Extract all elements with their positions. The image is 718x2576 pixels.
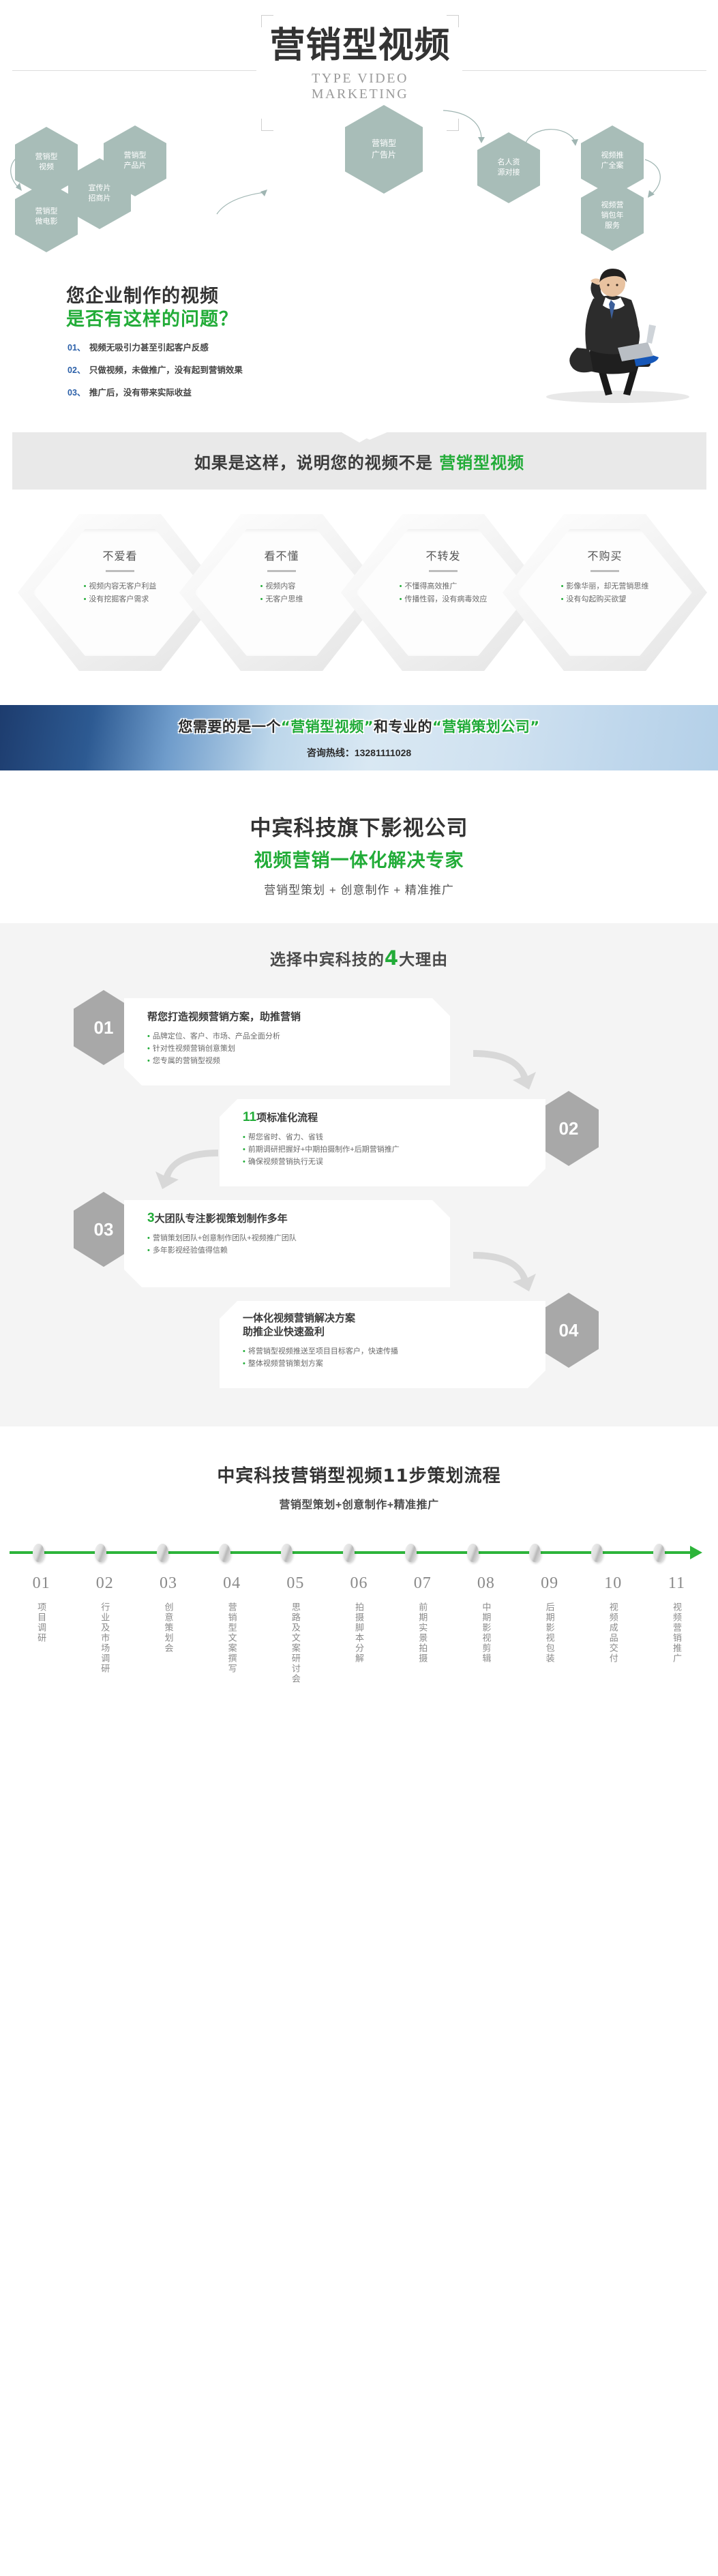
step-number: 09 <box>518 1574 582 1593</box>
reason-card-1[interactable]: 11项标准化流程 •帮您省时、省力、省钱 •前期调研把握好+中期拍摄制作+后期营… <box>220 1099 545 1186</box>
timeline-node[interactable] <box>157 1544 168 1562</box>
card-bullet: 不懂得高效推广 <box>404 582 457 590</box>
reason-badge-1-label: 02 <box>559 1118 579 1139</box>
question-item-number: 02、 <box>68 365 85 375</box>
step-label: 营销型文案撰写 <box>225 1602 239 1674</box>
reason-badge-3: 04 <box>539 1293 599 1368</box>
reason-card-3[interactable]: 一体化视频营销解决方案 助推企业快速盈利 •将营销型视频推送至项目目标客户，快速… <box>220 1301 545 1388</box>
cta-headline: 您需要的是一个“营销型视频”和专业的“营销策划公司” <box>178 716 539 736</box>
page-header: 营销型视频 TYPE VIDEO MARKETING <box>0 0 718 102</box>
landing-page: 营销型视频 TYPE VIDEO MARKETING 营销型 视频 <box>0 0 718 1708</box>
steps-subtitle: 营销型策划+创意制作+精准推广 <box>0 1495 718 1512</box>
card-bullets: •影像华丽，却无营销思维 •没有勾起购买欲望 <box>561 580 649 606</box>
step-label: 视频营销推广 <box>670 1602 684 1664</box>
reason-row-1: 02 11项标准化流程 •帮您省时、省力、省钱 •前期调研把握好+中期拍摄制作+… <box>0 1088 718 1190</box>
bullet-dot-icon: • <box>260 582 263 590</box>
step-item-9[interactable]: 10 视频成品交付 <box>582 1574 645 1688</box>
question-item-text: 视频无吸引力甚至引起客户反感 <box>89 343 209 353</box>
timeline-node[interactable] <box>33 1544 44 1562</box>
step-number: 01 <box>10 1574 73 1593</box>
reason-bullet: •整体视频营销策划方案 <box>243 1358 528 1370</box>
steps-title-post: 步策划流程 <box>409 1466 501 1486</box>
businessman-photo <box>503 262 694 405</box>
header-rule-left <box>12 70 256 71</box>
cta-part-1: 您需要的是一个 <box>178 719 281 735</box>
question-item-text: 推广后，没有带来实际收益 <box>89 388 192 398</box>
question-item-number: 03、 <box>68 388 85 398</box>
question-item-number: 01、 <box>68 343 85 353</box>
hex-service-5-label: 视频推 广全案 <box>601 151 624 171</box>
bullet-dot-icon: • <box>260 595 263 603</box>
bullet-dot-icon: • <box>147 1234 150 1242</box>
reasons-section: 选择中宾科技的4大理由 01 帮您打造视频营销方案，助推营销 •品牌定位、客户、… <box>0 923 718 1426</box>
card-divider <box>106 570 134 572</box>
card-bullets: •视频内容无客户利益 •没有挖掘客户需求 <box>84 580 157 606</box>
cta-banner-section: 您需要的是一个“营销型视频”和专业的“营销策划公司” 咨询热线：13281111… <box>0 698 718 780</box>
timeline-node[interactable] <box>591 1544 603 1562</box>
page-title: 营销型视频 <box>261 15 459 70</box>
step-item-6[interactable]: 07 前期实景拍摄 <box>391 1574 454 1688</box>
timeline-node[interactable] <box>653 1544 665 1562</box>
gray-banner-text: 如果是这样，说明您的视频不是 营销型视频 <box>194 449 524 473</box>
reason-bullet: •您专属的营销型视频 <box>147 1055 432 1067</box>
step-label: 创意策划会 <box>161 1602 175 1653</box>
hex-service-4-label: 名人资 源对接 <box>498 158 520 178</box>
company-line-3: 营销型策划 + 创意制作 + 精准推广 <box>0 880 718 897</box>
bullet-dot-icon: • <box>147 1032 150 1040</box>
bullet-dot-icon: • <box>147 1045 150 1053</box>
step-item-4[interactable]: 05 思路及文案研讨会 <box>264 1574 327 1688</box>
hex-service-7[interactable]: 视频营 销包年 服务 <box>581 180 644 251</box>
card-title: 不购买 <box>503 547 707 563</box>
step-item-5[interactable]: 06 拍摄脚本分解 <box>327 1574 391 1688</box>
reason-head-number: 3 <box>147 1211 155 1225</box>
company-line-2: 视频营销一体化解决专家 <box>0 845 718 872</box>
banner-notch-top-icon <box>342 432 377 443</box>
hex-service-6-label: 营销型 微电影 <box>35 207 58 227</box>
reason-badge-3-label: 04 <box>559 1320 579 1341</box>
timeline-node[interactable] <box>95 1544 106 1562</box>
bullet-dot-icon: • <box>561 595 564 603</box>
step-item-2[interactable]: 03 创意策划会 <box>136 1574 200 1688</box>
reason-badge-1: 02 <box>539 1091 599 1166</box>
hex-service-0-label: 营销型 视频 <box>35 152 58 173</box>
banner-notch-bottom-icon <box>342 490 377 500</box>
reason-bullet: •帮您省时、省力、省钱 <box>243 1131 528 1143</box>
reason-head-text: 帮您打造视频营销方案，助推营销 <box>147 1011 301 1023</box>
bullet-dot-icon: • <box>561 582 564 590</box>
page-subtitle-en: TYPE VIDEO MARKETING <box>261 71 459 102</box>
bullet-dot-icon: • <box>243 1158 245 1166</box>
reason-head-number: 11 <box>243 1110 256 1124</box>
header-rule-right <box>462 70 706 71</box>
question-item: 02、 只做视频，未做推广，没有起到营销效果 <box>68 363 243 376</box>
reason-bullet: •品牌定位、客户、市场、产品全面分析 <box>147 1030 432 1043</box>
reason-bullet: •前期调研把握好+中期拍摄制作+后期营销推广 <box>243 1143 528 1156</box>
reason-card-0-head: 帮您打造视频营销方案，助推营销 <box>147 1009 432 1024</box>
step-number: 04 <box>200 1574 264 1593</box>
card-divider <box>429 570 458 572</box>
steps-grid: 01 项目调研 02 行业及市场调研 03 创意策划会 04 营销型文案撰写 0… <box>0 1574 718 1688</box>
reasons-title-post: 大理由 <box>399 951 448 969</box>
reason-bullet: •多年影视经验值得信赖 <box>147 1244 432 1257</box>
step-item-7[interactable]: 08 中期影视剪辑 <box>454 1574 518 1688</box>
card-bullet: 无客户思维 <box>265 595 303 603</box>
question-item: 01、 视频无吸引力甚至引起客户反感 <box>68 340 243 353</box>
card-bullets: •不懂得高效推广 •传播性弱，没有病毒效应 <box>400 580 488 606</box>
bullet-dot-icon: • <box>243 1360 245 1368</box>
service-hex-grid: 营销型 视频 宣传片 招商片 营销型 产品片 营销型 广告片 名人资 <box>0 105 718 235</box>
card-bullet: 没有挖掘客户需求 <box>89 595 149 603</box>
gray-banner-section: 如果是这样，说明您的视频不是 营销型视频 <box>0 420 718 502</box>
reason-arrow-1-icon <box>146 1145 221 1194</box>
card-divider <box>267 570 296 572</box>
hex-service-3[interactable]: 营销型 广告片 <box>345 105 423 194</box>
cta-part-2: 和专业的 <box>374 719 432 735</box>
step-item-1[interactable]: 02 行业及市场调研 <box>73 1574 136 1688</box>
step-number: 08 <box>454 1574 518 1593</box>
reason-bullet: •营销策划团队+创意制作团队+视频推广团队 <box>147 1232 432 1244</box>
timeline-node[interactable] <box>343 1544 355 1562</box>
problem-cards-section: 不爱看 •视频内容无客户利益 •没有挖掘客户需求 看不懂 •视频内容 •无客户思… <box>0 514 718 671</box>
step-number: 06 <box>327 1574 391 1593</box>
reason-card-0[interactable]: 帮您打造视频营销方案，助推营销 •品牌定位、客户、市场、产品全面分析 •针对性视… <box>124 998 450 1085</box>
reason-row-3: 04 一体化视频营销解决方案 助推企业快速盈利 •将营销型视频推送至项目目标客户… <box>0 1290 718 1392</box>
timeline-node[interactable] <box>281 1544 293 1562</box>
reason-bullet: •确保视频营销执行无误 <box>243 1156 528 1168</box>
reasons-title-number: 4 <box>385 946 399 970</box>
reason-badge-2-label: 03 <box>94 1219 114 1240</box>
reasons-title-pre: 选择中宾科技的 <box>270 951 385 969</box>
question-section: 您企业制作的视频 是否有这样的问题？ 01、 视频无吸引力甚至引起客户反感 02… <box>0 269 718 405</box>
steps-title-pre: 中宾科技营销型视频 <box>217 1466 383 1486</box>
card-bullet: 影像华丽，却无营销思维 <box>566 582 648 590</box>
hex-service-2-label: 营销型 产品片 <box>124 151 147 171</box>
bullet-dot-icon: • <box>147 1246 150 1255</box>
question-item: 03、 推广后，没有带来实际收益 <box>68 385 243 398</box>
steps-title-number: 11 <box>383 1466 408 1486</box>
arc-connector-5 <box>215 188 270 218</box>
timeline-arrow-icon <box>690 1546 702 1559</box>
reason-bullet: •将营销型视频推送至项目目标客户，快速传播 <box>243 1345 528 1358</box>
question-list: 01、 视频无吸引力甚至引起客户反感 02、 只做视频，未做推广，没有起到营销效… <box>68 340 243 408</box>
hex-service-3-label: 营销型 广告片 <box>372 138 396 161</box>
reasons-list: 01 帮您打造视频营销方案，助推营销 •品牌定位、客户、市场、产品全面分析 •针… <box>0 987 718 1396</box>
reason-badge-0-label: 01 <box>94 1017 114 1038</box>
cta-hotline: 咨询热线：13281111028 <box>307 746 411 760</box>
card-bullets: •视频内容 •无客户思维 <box>260 580 303 606</box>
bullet-dot-icon: • <box>400 582 402 590</box>
bullet-dot-icon: • <box>84 582 87 590</box>
frame-corner-top-left-icon <box>261 15 273 27</box>
step-number: 11 <box>645 1574 708 1593</box>
gray-banner-highlight: 营销型视频 <box>439 453 524 473</box>
reason-bullet: •针对性视频营销创意策划 <box>147 1043 432 1055</box>
card-body: 不购买 •影像华丽，却无营销思维 •没有勾起购买欲望 <box>503 514 707 671</box>
step-number: 03 <box>136 1574 200 1593</box>
timeline-node[interactable] <box>219 1544 230 1562</box>
step-label: 项目调研 <box>34 1602 48 1643</box>
card-bullet: 视频内容 <box>265 582 295 590</box>
reason-arrow-2-icon <box>470 1248 545 1296</box>
step-item-3[interactable]: 04 营销型文案撰写 <box>200 1574 264 1688</box>
bullet-dot-icon: • <box>243 1133 245 1141</box>
reason-card-2-head: 3大团队专注影视策划制作多年 <box>147 1211 432 1226</box>
bullet-dot-icon: • <box>147 1057 150 1065</box>
question-item-text: 只做视频，未做推广，没有起到营销效果 <box>89 365 243 375</box>
problem-card-3[interactable]: 不购买 •影像华丽，却无营销思维 •没有勾起购买欲望 <box>503 514 707 671</box>
step-item-8[interactable]: 09 后期影视包装 <box>518 1574 582 1688</box>
hex-service-7-label: 视频营 销包年 服务 <box>601 200 624 231</box>
step-label: 行业及市场调研 <box>98 1602 112 1674</box>
gray-banner-plain: 如果是这样，说明您的视频不是 <box>194 453 439 473</box>
bullet-dot-icon: • <box>243 1145 245 1154</box>
reason-head-text: 大团队专注影视策划制作多年 <box>155 1213 288 1225</box>
cta-quote-2: “营销策划公司” <box>432 719 540 735</box>
card-bullet: 传播性弱，没有病毒效应 <box>404 595 487 603</box>
arc-connector-3 <box>640 158 672 200</box>
steps-title: 中宾科技营销型视频11步策划流程 <box>0 1462 718 1487</box>
cta-quote-1: “营销型视频” <box>281 719 374 735</box>
bullet-dot-icon: • <box>84 595 87 603</box>
cta-banner: 您需要的是一个“营销型视频”和专业的“营销策划公司” 咨询热线：13281111… <box>0 705 718 770</box>
card-bullet: 没有勾起购买欲望 <box>566 595 626 603</box>
reason-card-3-head: 一体化视频营销解决方案 助推企业快速盈利 <box>243 1312 528 1339</box>
card-divider <box>590 570 619 572</box>
reasons-title: 选择中宾科技的4大理由 <box>0 946 718 970</box>
reason-head-text: 项标准化流程 <box>256 1112 318 1124</box>
step-number: 05 <box>264 1574 327 1593</box>
step-item-10[interactable]: 11 视频营销推广 <box>645 1574 708 1688</box>
step-number: 02 <box>73 1574 136 1593</box>
step-label: 思路及文案研讨会 <box>288 1602 303 1684</box>
company-line-1: 中宾科技旗下影视公司 <box>0 811 718 841</box>
company-section: 中宾科技旗下影视公司 视频营销一体化解决专家 营销型策划 + 创意制作 + 精准… <box>0 811 718 897</box>
card-bullet: 视频内容无客户利益 <box>89 582 156 590</box>
step-number: 10 <box>582 1574 645 1593</box>
step-number: 07 <box>391 1574 454 1593</box>
arc-connector-1 <box>442 108 490 146</box>
bullet-dot-icon: • <box>243 1347 245 1356</box>
question-heading-2: 是否有这样的问题？ <box>66 304 238 331</box>
reason-card-2[interactable]: 3大团队专注影视策划制作多年 •营销策划团队+创意制作团队+视频推广团队 •多年… <box>124 1200 450 1287</box>
bullet-dot-icon: • <box>400 595 402 603</box>
hex-service-1-label: 宣传片 招商片 <box>89 183 111 204</box>
timeline-node[interactable] <box>405 1544 417 1562</box>
reason-arrow-0-icon <box>470 1046 545 1094</box>
reason-row-0: 01 帮您打造视频营销方案，助推营销 •品牌定位、客户、市场、产品全面分析 •针… <box>0 987 718 1090</box>
step-label: 视频成品交付 <box>606 1602 620 1664</box>
step-label: 前期实景拍摄 <box>415 1602 430 1664</box>
frame-corner-top-right-icon <box>447 15 459 27</box>
steps-section: 中宾科技营销型视频11步策划流程 营销型策划+创意制作+精准推广 01 项目调研 <box>0 1462 718 1708</box>
step-label: 中期影视剪辑 <box>479 1602 493 1664</box>
step-label: 后期影视包装 <box>543 1602 557 1664</box>
reason-card-1-head: 11项标准化流程 <box>243 1110 528 1125</box>
timeline-node[interactable] <box>467 1544 479 1562</box>
timeline-node[interactable] <box>529 1544 541 1562</box>
steps-timeline <box>0 1542 718 1562</box>
reason-row-2: 03 3大团队专注影视策划制作多年 •营销策划团队+创意制作团队+视频推广团队 … <box>0 1189 718 1291</box>
step-label: 拍摄脚本分解 <box>352 1602 366 1664</box>
step-item-0[interactable]: 01 项目调研 <box>10 1574 73 1688</box>
